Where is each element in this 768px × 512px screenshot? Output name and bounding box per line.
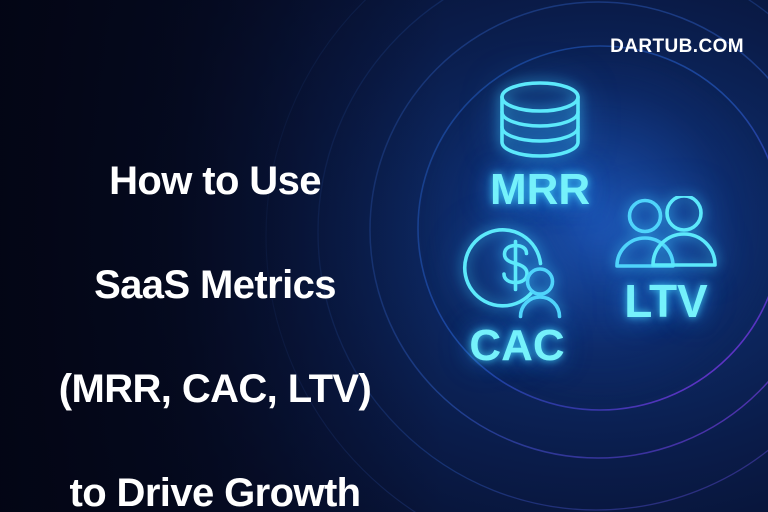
database-cylinder-icon	[492, 80, 588, 162]
title-line-4: to Drive Growth	[0, 467, 430, 512]
title-line-1: How to Use	[0, 155, 430, 207]
metric-label-cac: CAC	[469, 324, 564, 368]
poster-canvas: DARTUB.COM How to Use SaaS Metrics (MRR,…	[0, 0, 768, 512]
metric-cac: CAC	[462, 218, 572, 368]
metric-ltv: LTV	[612, 196, 720, 324]
title-line-3: (MRR, CAC, LTV)	[0, 363, 430, 415]
metric-label-mrr: MRR	[490, 168, 590, 212]
dollar-circle-person-icon	[462, 218, 572, 322]
metric-label-ltv: LTV	[624, 278, 707, 324]
metric-mrr: MRR	[490, 80, 590, 212]
page-title: How to Use SaaS Metrics (MRR, CAC, LTV) …	[0, 103, 430, 512]
two-people-icon	[612, 196, 720, 274]
title-line-2: SaaS Metrics	[0, 259, 430, 311]
brand-watermark: DARTUB.COM	[610, 36, 744, 58]
metrics-icon-cluster: MRR CAC	[432, 58, 768, 398]
